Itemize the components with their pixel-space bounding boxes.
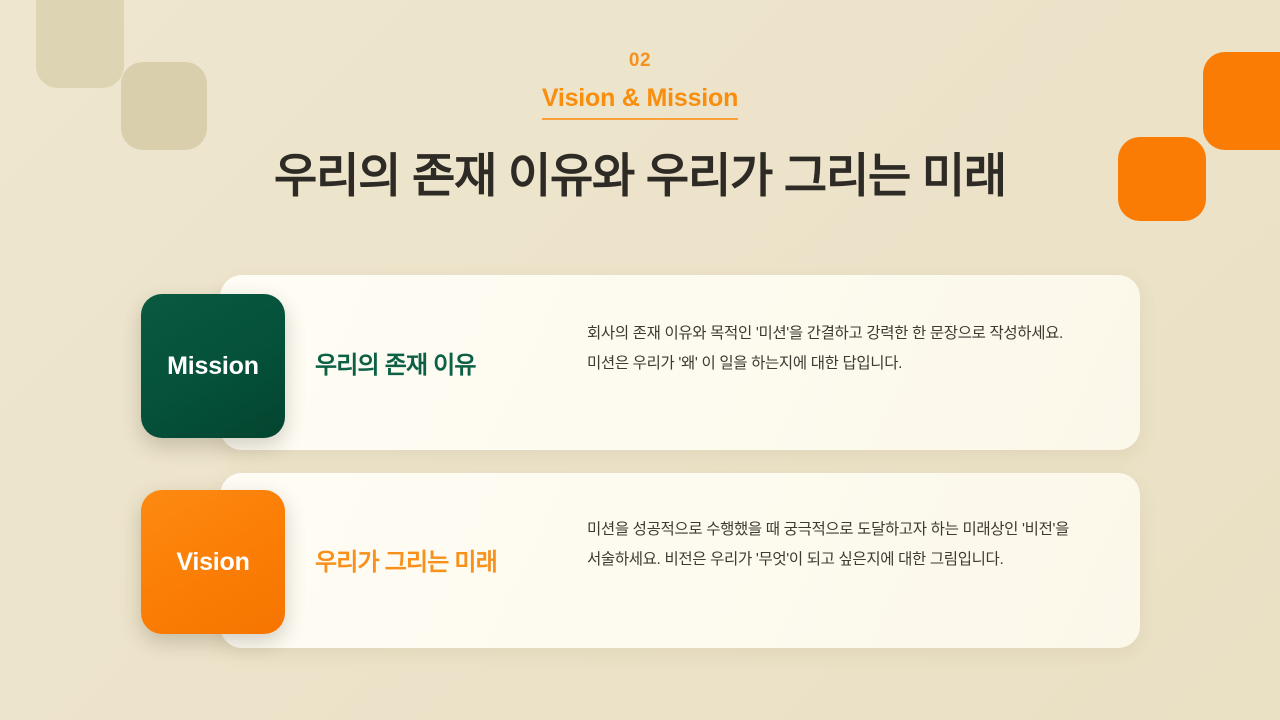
mission-body-text: 회사의 존재 이유와 목적인 '미션'을 간결하고 강력한 한 문장으로 작성하… (587, 319, 1077, 379)
page-title: 우리의 존재 이유와 우리가 그리는 미래 (0, 146, 1280, 206)
vision-body-text: 미션을 성공적으로 수행했을 때 궁극적으로 도달하고자 하는 미래상인 '비전… (587, 515, 1077, 575)
slide-header: 02 Vision & Mission 우리의 존재 이유와 우리가 그리는 미… (0, 48, 1280, 206)
mission-badge: Mission (141, 294, 285, 438)
slide-canvas: 02 Vision & Mission 우리의 존재 이유와 우리가 그리는 미… (0, 0, 1280, 720)
vision-heading: 우리가 그리는 미래 (315, 546, 497, 580)
section-title: Vision & Mission (542, 82, 738, 120)
vision-badge: Vision (141, 490, 285, 634)
section-number: 02 (0, 48, 1280, 74)
mission-heading: 우리의 존재 이유 (315, 349, 476, 383)
